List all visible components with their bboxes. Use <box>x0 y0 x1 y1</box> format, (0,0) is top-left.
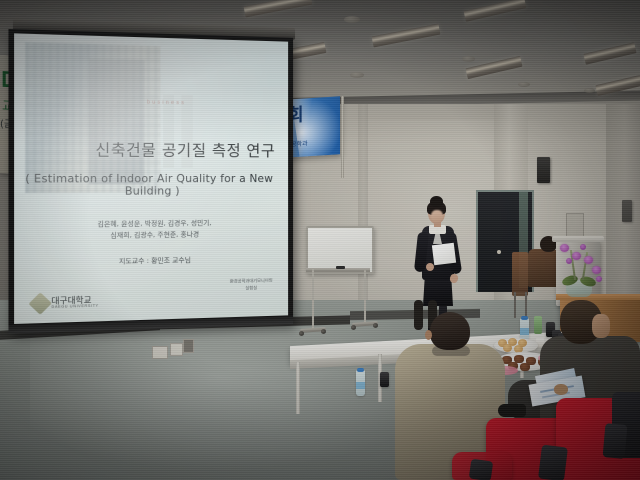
wall-control-box[interactable] <box>566 213 584 237</box>
slide-decor-word: business <box>147 100 186 107</box>
ceiling-vent <box>584 88 595 93</box>
wall-corner <box>358 104 368 314</box>
logo-name-en: DAEGU UNIVERSITY <box>51 304 98 309</box>
bottle-label <box>520 328 529 335</box>
university-logo: 대구대학교 DAEGU UNIVERSITY <box>31 294 98 312</box>
audience-ear <box>425 330 432 340</box>
whiteboard-caster <box>373 323 378 328</box>
green-bottle[interactable] <box>534 316 542 334</box>
bottle-cap <box>357 368 364 372</box>
table-leg <box>296 362 300 414</box>
orchid-bloom <box>572 252 581 260</box>
banner-pole <box>341 96 344 178</box>
audience-head <box>430 312 470 350</box>
orchid-bloom <box>566 258 572 264</box>
logo-text-block: 대구대학교 DAEGU UNIVERSITY <box>51 296 98 309</box>
orchid-bloom <box>580 244 586 250</box>
logo-diamond-icon <box>28 292 51 314</box>
food-item <box>520 363 530 371</box>
ceiling-vent <box>518 82 530 87</box>
food-item <box>503 344 512 352</box>
slide-advisor: 지도교수 : 황민조 교수님 <box>14 252 288 267</box>
side-chair-leg <box>514 292 516 318</box>
floor-outlet[interactable] <box>183 339 194 353</box>
floor-outlet[interactable] <box>170 343 183 356</box>
whiteboard-caster <box>351 325 356 330</box>
orchid-bloom <box>596 276 602 282</box>
audience-hand <box>554 384 568 395</box>
side-chair-leg <box>525 292 527 318</box>
orchid-bloom <box>584 256 593 264</box>
presenter-hair-bun <box>430 196 443 207</box>
background-person-legs <box>414 300 423 330</box>
auditorium-seat-armrest[interactable] <box>603 423 628 459</box>
beverage-can[interactable] <box>380 372 389 387</box>
side-chair[interactable] <box>512 252 528 296</box>
presentation-slide: business 신축건물 공기질 측정 연구 ( Estimation of … <box>14 33 288 324</box>
whiteboard-marker[interactable] <box>336 266 345 269</box>
presenter-hand <box>449 273 459 283</box>
slide-background-photo-accent <box>89 58 145 184</box>
ceiling-vent <box>350 72 364 78</box>
slide-authors-line-2: 심재희, 김광수, 주현준, 홍나경 <box>14 228 288 243</box>
bottle-cap <box>521 316 528 320</box>
screen-frame: business 신축건물 공기질 측정 연구 ( Estimation of … <box>8 29 293 334</box>
wall-speaker-icon <box>622 200 632 222</box>
whiteboard-caster <box>321 329 326 334</box>
lecture-hall-photo: 대 교 . (금) 발표회 표회 구대학교 환경공학과 business 신축건… <box>0 0 640 480</box>
door-knob-icon[interactable] <box>497 250 501 254</box>
slide-department: 환경공학과대기모니터링 실험실 <box>230 278 273 293</box>
floor-outlet[interactable] <box>152 346 168 359</box>
slide-authors: 김은혜, 윤성운, 박정원, 김경우, 성민기, 심재희, 김광수, 주현준, … <box>14 217 288 244</box>
slide-title: 신축건물 공기질 측정 연구 <box>14 138 275 161</box>
projection-screen: business 신축건물 공기질 측정 연구 ( Estimation of … <box>0 18 299 334</box>
orchid-bloom <box>560 244 569 252</box>
whiteboard-leg <box>364 270 366 324</box>
orchid-bloom <box>592 266 601 274</box>
ceiling-vent <box>344 16 360 23</box>
slide-subtitle: ( Estimation of Indoor Air Quality for a… <box>14 173 283 199</box>
presenter-hand <box>426 263 434 271</box>
wall-speaker-icon <box>537 157 550 183</box>
slide-department-line-2: 실험실 <box>230 284 273 292</box>
whiteboard-caster <box>299 331 304 336</box>
ceiling-vent <box>462 56 475 62</box>
presenter-face <box>431 210 443 222</box>
whiteboard-leg <box>312 268 314 330</box>
lectern-top <box>552 236 604 242</box>
audience-face <box>592 314 610 338</box>
presenter-papers <box>432 243 456 266</box>
bottle-label <box>356 382 365 389</box>
auditorium-seat-armrest[interactable] <box>538 445 568 480</box>
audience-shoe <box>498 404 526 417</box>
auditorium-seat-armrest[interactable] <box>469 459 494 480</box>
